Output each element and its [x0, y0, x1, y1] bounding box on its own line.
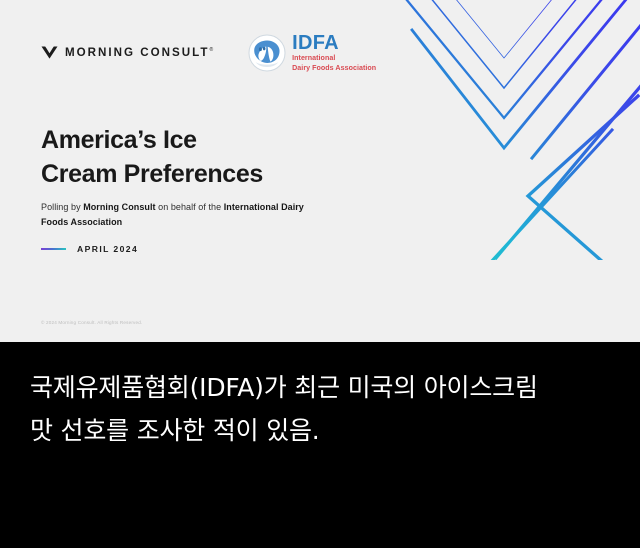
gradient-rule [41, 248, 66, 250]
morning-consult-logo: MORNING CONSULT® [41, 42, 213, 64]
idfa-subtitle-line1: International [292, 54, 376, 63]
double-chevron-down-icon [41, 46, 58, 59]
subtitle-prefix: Polling by [41, 202, 83, 212]
caption-text: 국제유제품협회(IDFA)가 최근 미국의 아이스크림 맛 선호를 조사한 적이… [30, 366, 610, 452]
date-row: APRIL 2024 [41, 244, 138, 254]
idfa-acronym: IDFA [292, 33, 376, 53]
presentation-slide: MORNING CONSULT® IDFA International Dair… [0, 0, 640, 342]
registered-trademark-symbol: ® [209, 47, 213, 53]
morning-consult-wordmark-text: MORNING CONSULT [65, 46, 209, 59]
subtitle-org-morning-consult: Morning Consult [83, 202, 155, 212]
caption-panel: 국제유제품협회(IDFA)가 최근 미국의 아이스크림 맛 선호를 조사한 적이… [0, 342, 640, 548]
morning-consult-wordmark: MORNING CONSULT® [65, 47, 213, 59]
subtitle-middle: on behalf of the [156, 202, 224, 212]
chevron-pattern-decoration [380, 0, 640, 260]
copyright-notice: © 2024 Morning Consult. All Rights Reser… [41, 320, 142, 325]
caption-line1: 국제유제품협회(IDFA)가 최근 미국의 아이스크림 [30, 366, 610, 409]
idfa-logo: IDFA International Dairy Foods Associati… [248, 33, 376, 72]
page-title-line2: Cream Preferences [41, 157, 263, 191]
idfa-subtitle-line2: Dairy Foods Association [292, 64, 376, 73]
page-title: America’s Ice Cream Preferences [41, 123, 263, 191]
idfa-circular-cow-badge-icon [248, 34, 286, 72]
caption-line2: 맛 선호를 조사한 적이 있음. [30, 409, 610, 452]
page-title-line1: America’s Ice [41, 123, 263, 157]
idfa-wordmark: IDFA International Dairy Foods Associati… [292, 33, 376, 72]
logo-row: MORNING CONSULT® IDFA International Dair… [41, 33, 376, 72]
date-label: APRIL 2024 [77, 244, 138, 254]
subtitle: Polling by Morning Consult on behalf of … [41, 200, 311, 229]
